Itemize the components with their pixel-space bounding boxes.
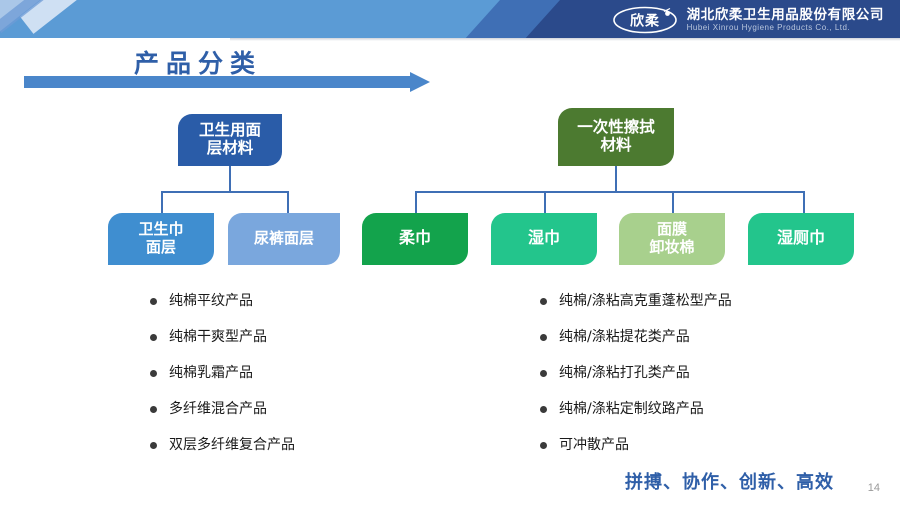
list-item-label: 纯棉乳霜产品: [169, 362, 253, 382]
bullet-dot-icon: [150, 298, 157, 305]
list-item-label: 纯棉干爽型产品: [169, 326, 267, 346]
list-item-label: 纯棉/涤粘打孔类产品: [559, 362, 690, 382]
list-item: 双层多纤维复合产品: [150, 434, 295, 470]
node-right-child4-line1: 湿厕巾: [777, 230, 825, 249]
list-item: 纯棉/涤粘打孔类产品: [540, 362, 732, 398]
list-item: 纯棉平纹产品: [150, 290, 295, 326]
connector-right-child3-drop: [672, 191, 674, 214]
bullet-dot-icon: [150, 442, 157, 449]
connector-left-child1-drop: [161, 191, 163, 214]
company-name-cn: 湖北欣柔卫生用品股份有限公司: [687, 8, 884, 22]
node-left-root[interactable]: 卫生用面 层材料: [178, 114, 282, 166]
bullet-dot-icon: [540, 334, 547, 341]
bullet-dot-icon: [540, 406, 547, 413]
list-item-label: 纯棉/涤粘高克重蓬松型产品: [559, 290, 732, 310]
bullet-dot-icon: [150, 406, 157, 413]
list-item-label: 可冲散产品: [559, 434, 629, 454]
list-item-label: 纯棉平纹产品: [169, 290, 253, 310]
node-right-child3-line1: 面膜: [649, 221, 694, 239]
node-soft-towel[interactable]: 柔巾: [362, 213, 468, 265]
list-item-label: 多纤维混合产品: [169, 398, 267, 418]
right-product-list: 纯棉/涤粘高克重蓬松型产品 纯棉/涤粘提花类产品 纯棉/涤粘打孔类产品 纯棉/涤…: [540, 290, 732, 470]
node-sanitary-napkin-surface[interactable]: 卫生巾 面层: [108, 213, 214, 265]
header-band-shadow: [0, 38, 900, 41]
bullet-dot-icon: [540, 298, 547, 305]
connector-left-bus: [161, 191, 289, 193]
node-facial-mask-makeup-cotton[interactable]: 面膜 卸妆棉: [619, 213, 725, 265]
list-item: 纯棉干爽型产品: [150, 326, 295, 362]
node-wet-toilet-wipes[interactable]: 湿厕巾: [748, 213, 854, 265]
connector-right-root-stem: [615, 166, 617, 192]
svg-text:欣柔: 欣柔: [630, 13, 660, 30]
connector-right-child4-drop: [803, 191, 805, 214]
bullet-dot-icon: [150, 334, 157, 341]
footer-slogan: 拼搏、协作、创新、高效: [625, 468, 834, 494]
title-underline-arrow-icon: [24, 72, 430, 92]
company-name-en: Hubei Xinrou Hygiene Products Co., Ltd.: [687, 24, 884, 32]
company-name-block: 湖北欣柔卫生用品股份有限公司 Hubei Xinrou Hygiene Prod…: [687, 8, 884, 33]
node-left-root-line2: 层材料: [199, 140, 261, 158]
node-right-child2-line1: 湿巾: [528, 230, 560, 249]
list-item: 纯棉/涤粘定制纹路产品: [540, 398, 732, 434]
bullet-dot-icon: [150, 370, 157, 377]
node-left-root-line1: 卫生用面: [199, 122, 261, 140]
list-item-label: 纯棉/涤粘提花类产品: [559, 326, 690, 346]
node-diaper-surface[interactable]: 尿裤面层: [228, 213, 340, 265]
slide-canvas: 欣柔 湖北欣柔卫生用品股份有限公司 Hubei Xinrou Hygiene P…: [0, 0, 900, 510]
list-item-label: 双层多纤维复合产品: [169, 434, 295, 454]
list-item: 纯棉/涤粘提花类产品: [540, 326, 732, 362]
node-right-child1-line1: 柔巾: [399, 230, 431, 249]
node-right-root-line2: 材料: [577, 137, 655, 155]
list-item-label: 纯棉/涤粘定制纹路产品: [559, 398, 704, 418]
bullet-dot-icon: [540, 370, 547, 377]
left-product-list: 纯棉平纹产品 纯棉干爽型产品 纯棉乳霜产品 多纤维混合产品 双层多纤维复合产品: [150, 290, 295, 470]
node-left-child1-line1: 卫生巾: [138, 221, 183, 239]
connector-left-root-stem: [229, 166, 231, 192]
connector-left-child2-drop: [287, 191, 289, 214]
node-left-child1-line2: 面层: [138, 239, 183, 257]
node-wet-wipes[interactable]: 湿巾: [491, 213, 597, 265]
list-item: 纯棉/涤粘高克重蓬松型产品: [540, 290, 732, 326]
company-logo-icon: 欣柔: [612, 6, 678, 34]
bullet-dot-icon: [540, 442, 547, 449]
node-right-root[interactable]: 一次性擦拭 材料: [558, 108, 674, 166]
connector-right-child2-drop: [544, 191, 546, 214]
node-right-child3-line2: 卸妆棉: [649, 239, 694, 257]
company-branding: 欣柔 湖北欣柔卫生用品股份有限公司 Hubei Xinrou Hygiene P…: [612, 3, 884, 37]
connector-right-bus: [415, 191, 805, 193]
node-right-root-line1: 一次性擦拭: [577, 119, 655, 137]
connector-right-child1-drop: [415, 191, 417, 214]
list-item: 纯棉乳霜产品: [150, 362, 295, 398]
node-left-child2-line1: 尿裤面层: [254, 230, 314, 248]
list-item: 可冲散产品: [540, 434, 732, 470]
list-item: 多纤维混合产品: [150, 398, 295, 434]
page-number: 14: [868, 482, 880, 494]
